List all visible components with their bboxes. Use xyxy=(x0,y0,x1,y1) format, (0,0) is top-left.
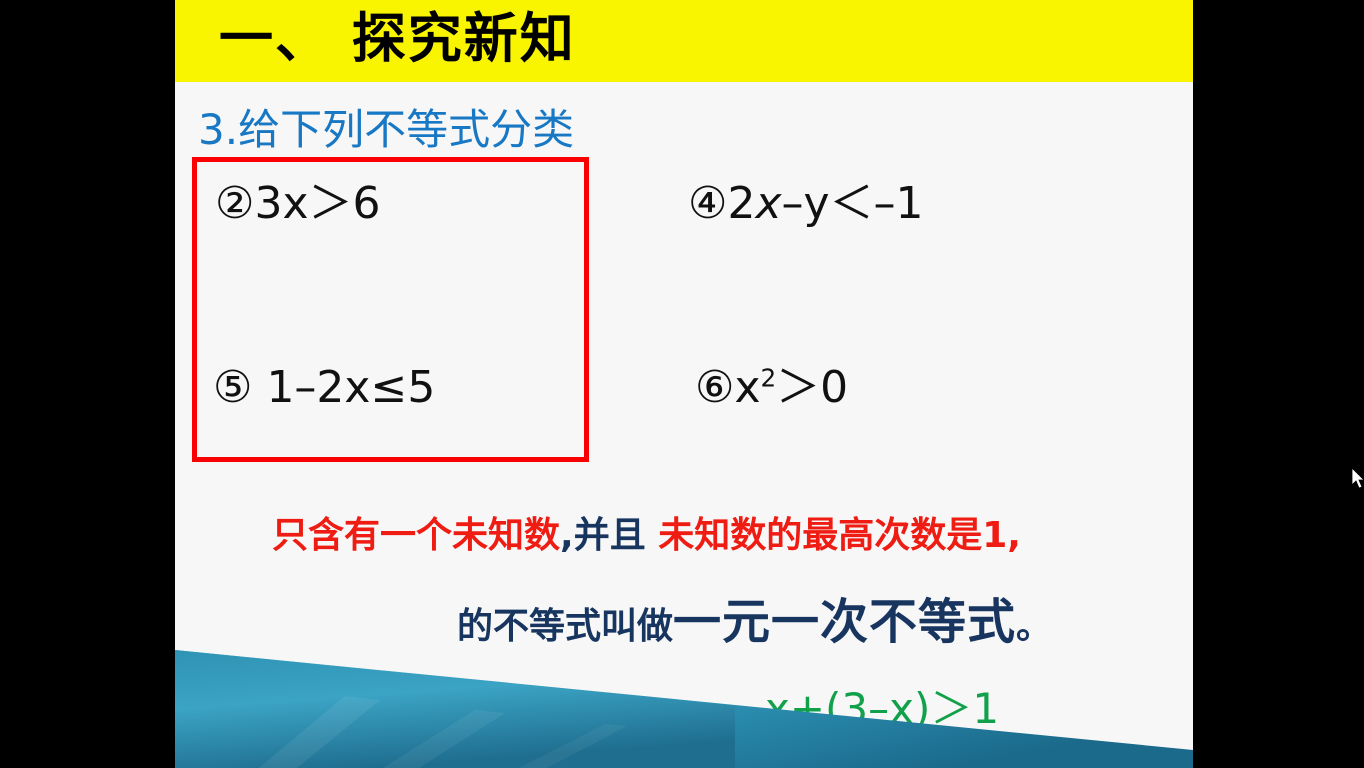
slide-title: 一、 探究新知 xyxy=(219,0,576,80)
decoration-black-wedge xyxy=(175,652,1193,768)
item-marker-4: ④ xyxy=(688,178,727,229)
decoration-streak-3 xyxy=(519,724,627,768)
video-player-frame: 一、 探究新知 3.给下列不等式分类 ②3x＞6 ④2x–y＜–1 ⑤ 1–2x… xyxy=(0,0,1364,768)
decoration-teal-band xyxy=(175,650,1193,768)
decoration-streak-1 xyxy=(259,696,380,768)
item-exponent-6: 2 xyxy=(761,363,777,392)
definition-clause-1: 只含有一个未知数 xyxy=(272,515,560,556)
definition-period: 。 xyxy=(1016,606,1052,647)
item-lead-4: 2 xyxy=(727,178,755,229)
item-variable-4: x xyxy=(755,178,781,229)
expression-item-2: ②3x＞6 xyxy=(215,182,380,226)
item-body-2: 3x＞6 xyxy=(254,178,380,229)
decoration-streak-2 xyxy=(383,710,505,768)
item-marker-5: ⑤ xyxy=(213,362,252,413)
definition-conjunction: ,并且 xyxy=(560,515,658,556)
definition-term: 一元一次不等式 xyxy=(673,594,1016,650)
expression-item-4: ④2x–y＜–1 xyxy=(688,182,924,226)
item-body-4: –y＜–1 xyxy=(782,178,924,229)
expression-item-6: ⑥x2＞0 xyxy=(695,366,848,410)
definition-line-2: 的不等式叫做一元一次不等式。 xyxy=(457,598,1052,646)
item-body-5: 1–2x≤5 xyxy=(252,362,435,413)
definition-lead-in: 的不等式叫做 xyxy=(457,606,673,647)
item-marker-6: ⑥ xyxy=(695,362,734,413)
definition-clause-2: 未知数的最高次数是1, xyxy=(658,515,1021,556)
definition-line-1: 只含有一个未知数,并且 未知数的最高次数是1, xyxy=(272,518,1021,554)
decoration-pale-sliver xyxy=(175,672,1193,768)
item-body-6: ＞0 xyxy=(776,362,848,413)
decoration-teal-body xyxy=(175,650,735,768)
expression-item-5: ⑤ 1–2x≤5 xyxy=(213,366,435,410)
item-base-6: x xyxy=(734,362,760,413)
presentation-slide: 一、 探究新知 3.给下列不等式分类 ②3x＞6 ④2x–y＜–1 ⑤ 1–2x… xyxy=(175,0,1193,768)
title-banner: 一、 探究新知 xyxy=(175,0,1193,82)
example-expression: x+(3–x)＞1 xyxy=(765,688,999,730)
subheading-text: 3.给下列不等式分类 xyxy=(198,96,574,157)
mouse-pointer-icon xyxy=(1352,468,1364,490)
item-marker-2: ② xyxy=(215,178,254,229)
